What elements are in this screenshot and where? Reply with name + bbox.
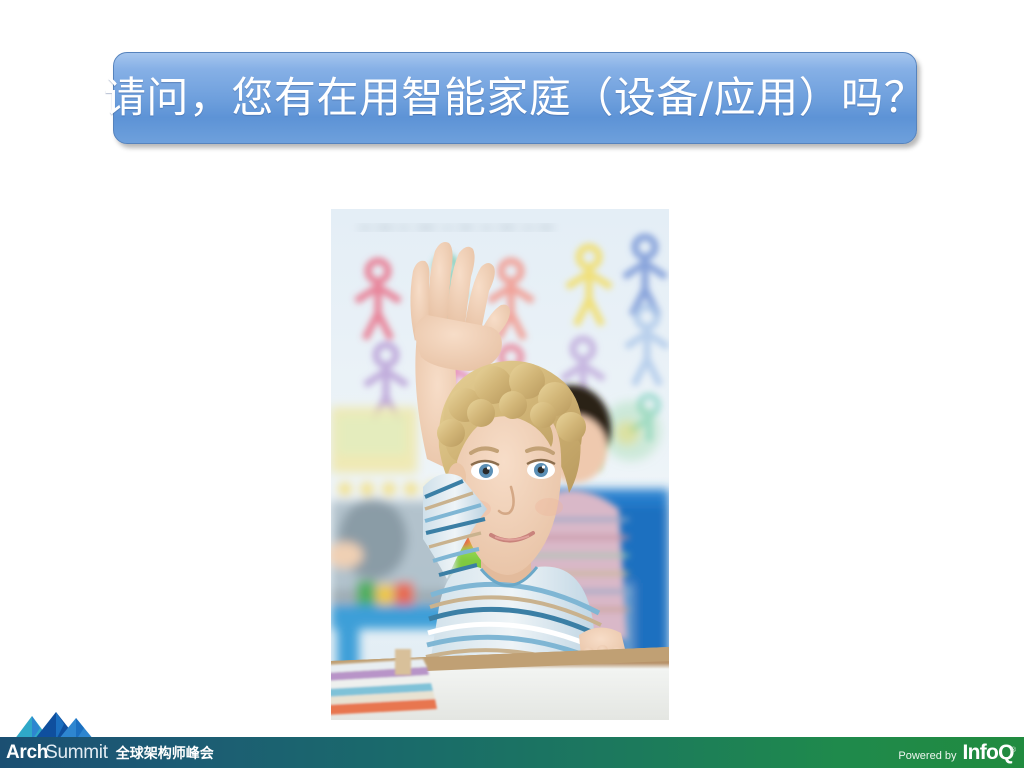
footer-brand: ArchSummit 全球架构师峰会 <box>0 742 214 764</box>
brand-summit-text: Summit <box>45 742 108 763</box>
slide-footer: ArchSummit 全球架构师峰会 Powered by InfoQ® <box>0 737 1024 768</box>
slide-title-banner: 请问，您有在用智能家庭（设备/应用）吗？ <box>113 52 917 144</box>
page-title: 请问，您有在用智能家庭（设备/应用）吗？ <box>104 75 926 121</box>
brand-chinese-text: 全球架构师峰会 <box>116 743 214 763</box>
mountain-logo-svg <box>6 710 118 740</box>
brand-arch-text: Arch <box>6 742 48 763</box>
classroom-photo <box>331 209 669 720</box>
books-stack <box>331 659 437 715</box>
archsummit-mountain-logo <box>6 710 118 740</box>
infoq-logo-text: InfoQ <box>963 741 1014 764</box>
powered-by-text: Powered by <box>898 750 956 762</box>
classroom-photo-illustration <box>331 209 669 720</box>
infoq-trademark-icon: ® <box>1011 747 1016 754</box>
footer-powered-by: Powered by InfoQ® <box>898 741 1024 765</box>
slide-canvas: 请问，您有在用智能家庭（设备/应用）吗？ <box>0 0 1024 768</box>
